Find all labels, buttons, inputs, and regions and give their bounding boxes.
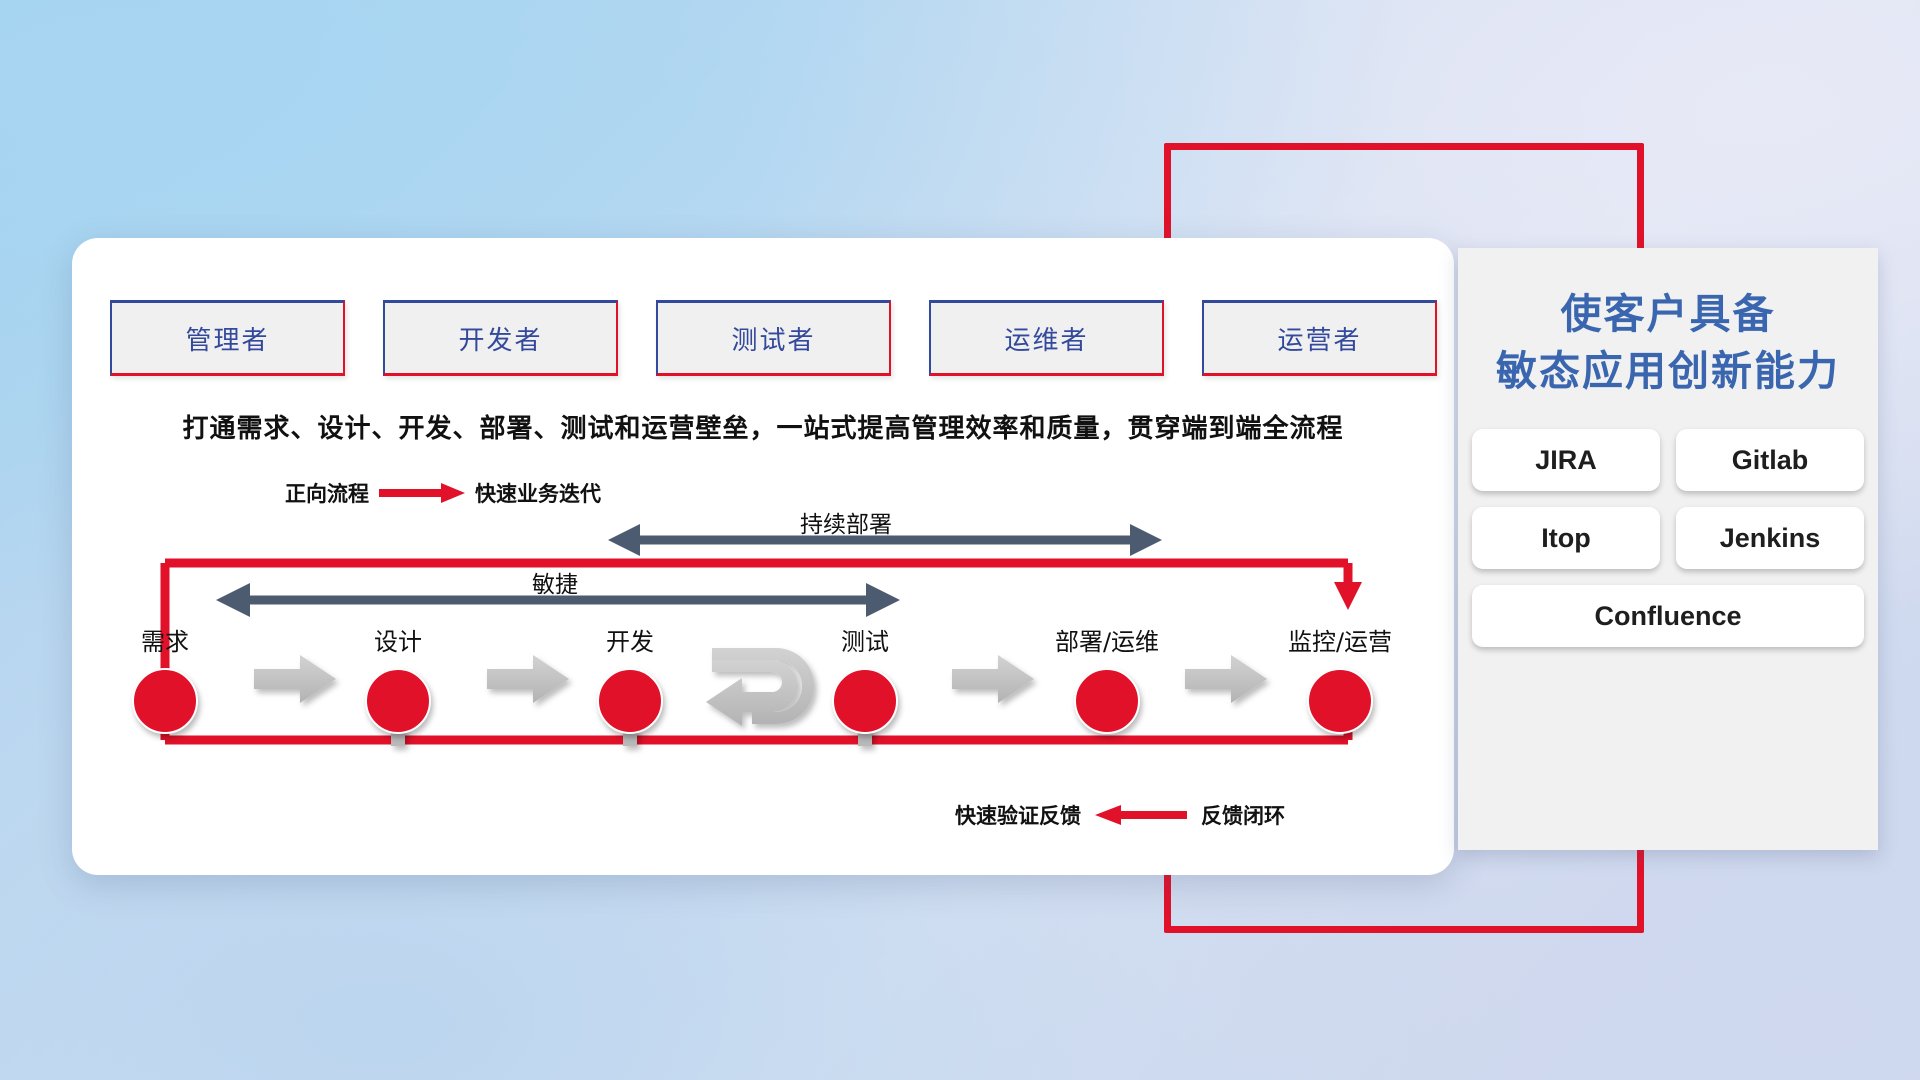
arrow-right-icon: [379, 482, 465, 504]
role-label-blue-1: 开发: [458, 325, 514, 355]
stage-node-1[interactable]: [365, 668, 431, 734]
role-label-blue-2: 测试: [731, 325, 787, 355]
description-text: 打通需求、设计、开发、部署、测试和运营壁垒，一站式提高管理效率和质量，贯穿端到端…: [0, 408, 1526, 445]
role-label-blue-0: 管理: [185, 325, 241, 355]
role-box-list: 管理者 开发者 测试者 运维者 运营者: [110, 300, 1437, 376]
role-label-red-4: 者: [1334, 325, 1362, 355]
stage-label-0: 需求: [141, 622, 189, 657]
role-label-red-0: 者: [242, 325, 270, 355]
forward-flow-legend: 正向流程 快速业务迭代: [285, 478, 601, 508]
stage-label-1: 设计: [374, 622, 422, 657]
stage-label-4: 部署/运维: [1055, 622, 1159, 657]
feedback-legend: 快速验证反馈 反馈闭环: [955, 800, 1285, 830]
right-panel: 使客户具备 敏态应用创新能力 JIRA Gitlab Itop Jenkins …: [1458, 248, 1878, 850]
span-label-continuous-deploy: 持续部署: [800, 505, 892, 539]
arrow-left-icon: [1095, 804, 1187, 826]
role-label-red-2: 者: [788, 325, 816, 355]
role-box-tester[interactable]: 测试者: [656, 300, 891, 376]
role-label-blue-3: 运维: [1004, 325, 1060, 355]
stage-node-0[interactable]: [132, 668, 198, 734]
tool-list: JIRA Gitlab Itop Jenkins Confluence: [1472, 429, 1864, 647]
tool-confluence[interactable]: Confluence: [1472, 585, 1864, 647]
forward-flow-left-label: 正向流程: [285, 478, 369, 508]
role-box-developer[interactable]: 开发者: [383, 300, 618, 376]
role-box-ops[interactable]: 运维者: [929, 300, 1164, 376]
stage-node-3[interactable]: [832, 668, 898, 734]
feedback-left-label: 快速验证反馈: [955, 800, 1081, 830]
feedback-right-label: 反馈闭环: [1201, 800, 1285, 830]
tool-jira[interactable]: JIRA: [1472, 429, 1660, 491]
tool-jenkins[interactable]: Jenkins: [1676, 507, 1864, 569]
right-panel-title-line2: 敏态应用创新能力: [1458, 343, 1878, 400]
role-label-red-1: 者: [515, 325, 543, 355]
role-box-operator[interactable]: 运营者: [1202, 300, 1437, 376]
stage-node-2[interactable]: [597, 668, 663, 734]
slide-canvas: 管理者 开发者 测试者 运维者 运营者 打通需求、设计、开发、部署、测试和运营壁…: [0, 0, 1920, 1080]
tool-gitlab[interactable]: Gitlab: [1676, 429, 1864, 491]
stage-node-4[interactable]: [1074, 668, 1140, 734]
right-panel-title: 使客户具备 敏态应用创新能力: [1458, 286, 1878, 399]
forward-flow-right-label: 快速业务迭代: [475, 478, 601, 508]
role-label-red-3: 者: [1061, 325, 1089, 355]
tool-itop[interactable]: Itop: [1472, 507, 1660, 569]
span-label-agile: 敏捷: [532, 565, 578, 599]
stage-label-3: 测试: [841, 622, 889, 657]
right-panel-title-line1: 使客户具备: [1458, 286, 1878, 343]
role-label-blue-4: 运营: [1277, 325, 1333, 355]
role-box-manager[interactable]: 管理者: [110, 300, 345, 376]
stage-label-2: 开发: [606, 622, 654, 657]
stage-label-5: 监控/运营: [1288, 622, 1392, 657]
stage-node-5[interactable]: [1307, 668, 1373, 734]
